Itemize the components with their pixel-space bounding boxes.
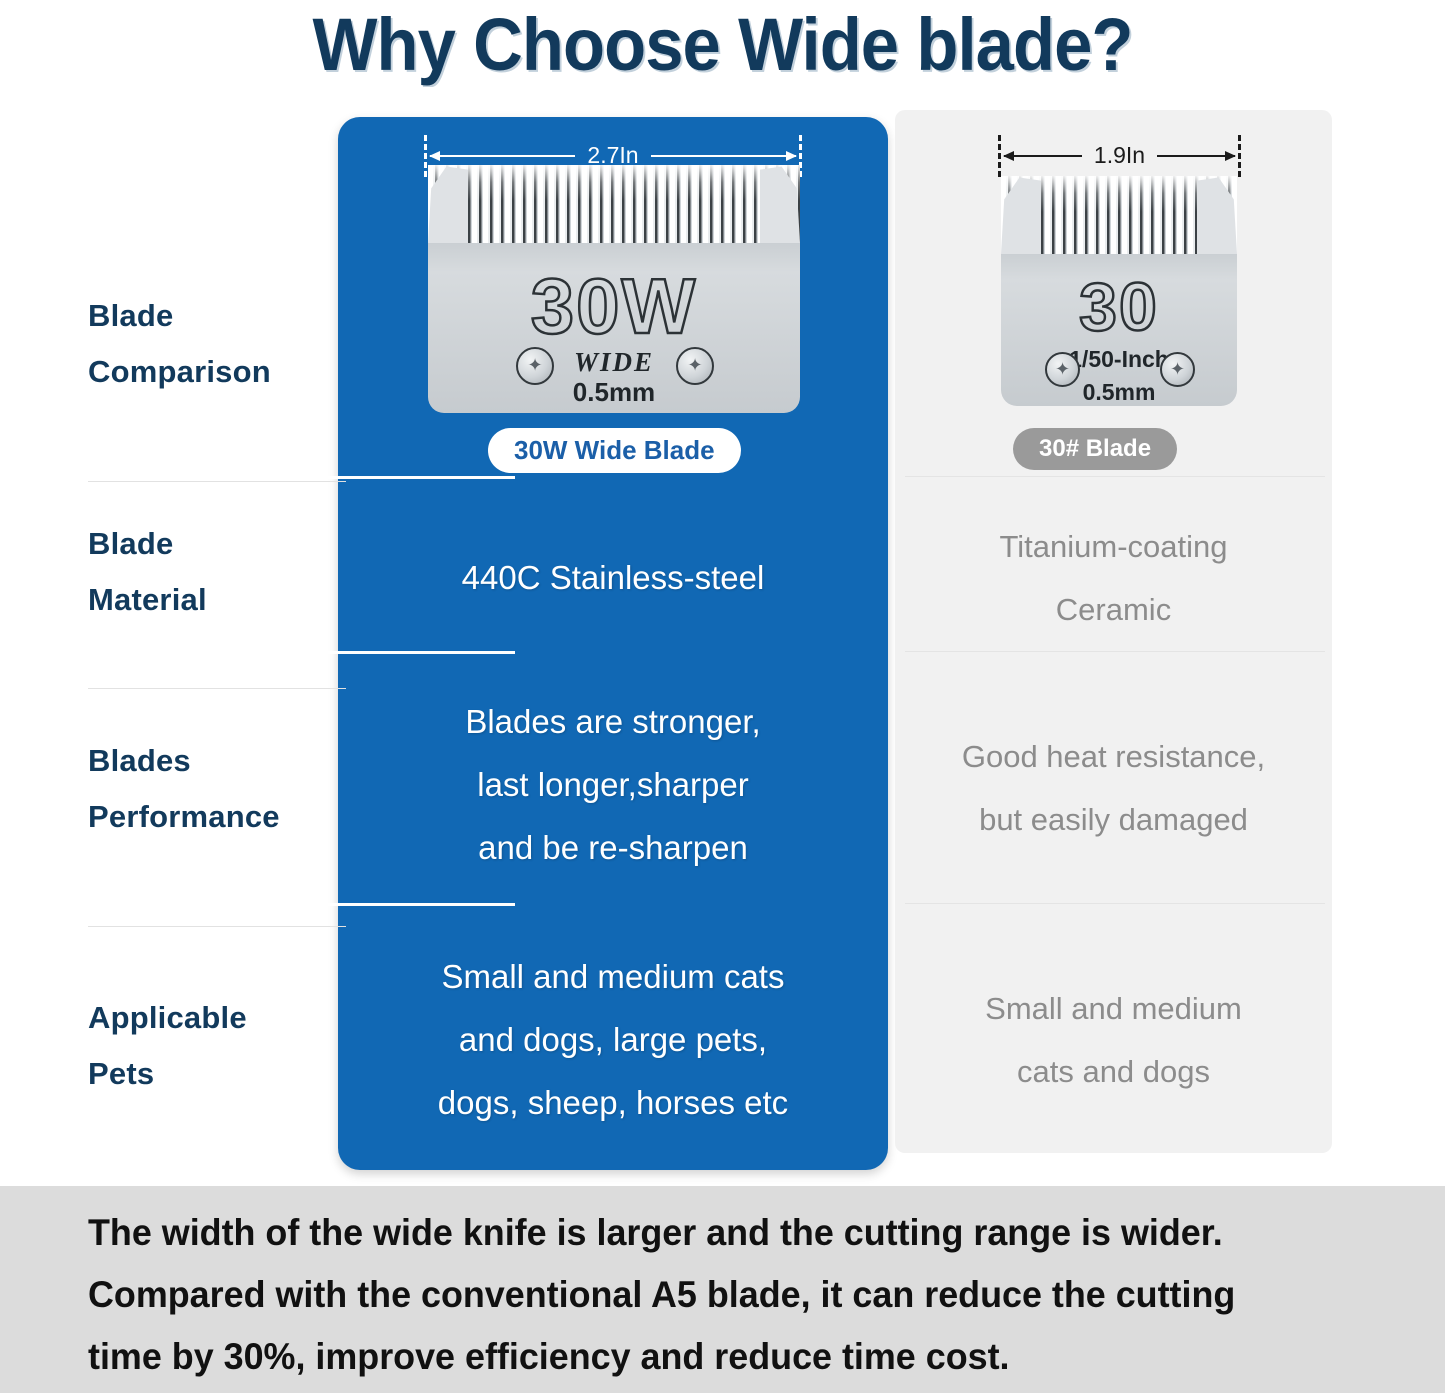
star-screw-icon: ✦ xyxy=(1160,352,1195,387)
cell-line: cats and dogs xyxy=(895,1040,1332,1103)
highlight-badge: 30W Wide Blade xyxy=(488,428,741,473)
screw-star-glyph: ✦ xyxy=(1170,360,1185,378)
footer-text: The width of the wide knife is larger an… xyxy=(88,1202,1339,1388)
page-title: Why Choose Wide blade? xyxy=(51,2,1395,87)
dimension-arrow-right xyxy=(1157,155,1235,157)
dimension-tick-left xyxy=(424,135,427,177)
row-label-blade-material: Blade Material xyxy=(88,516,348,628)
dimension-tick-left xyxy=(998,135,1001,177)
dimension-arrow-right xyxy=(651,155,796,157)
row-label-line: Comparison xyxy=(88,344,348,400)
cell-line: Small and medium xyxy=(895,977,1332,1040)
row-label-line: Blades xyxy=(88,733,348,789)
highlight-row-divider xyxy=(35,476,515,479)
blade-model-text: 30W xyxy=(428,261,800,352)
cell-line: last longer,sharper xyxy=(338,753,888,816)
compare-badge: 30# Blade xyxy=(1013,428,1177,470)
row-divider xyxy=(88,688,346,689)
cell-line: but easily damaged xyxy=(895,788,1332,851)
cell-line: Good heat resistance, xyxy=(895,725,1332,788)
highlight-row-divider xyxy=(35,903,515,906)
row-label-blade-comparison: Blade Comparison xyxy=(88,288,348,400)
screw-star-glyph: ✦ xyxy=(687,356,702,374)
blade-graphic-30w: 30W WIDE 0.5mm ✦ ✦ xyxy=(428,165,800,413)
row-label-line: Material xyxy=(88,572,348,628)
row-label-applicable-pets: Applicable Pets xyxy=(88,990,348,1102)
compare-blade-figure: 1.9In 30 1/50-Inch 0.5mm ✦ ✦ 30# Blade xyxy=(895,110,1332,470)
highlight-cell-blades-performance: Blades are stronger, last longer,sharper… xyxy=(338,690,888,879)
blade-sub-label-a: 1/50-Inch xyxy=(1001,346,1237,373)
cell-line: 440C Stainless-steel xyxy=(338,546,888,609)
cell-line: Ceramic xyxy=(895,578,1332,641)
footer-banner: The width of the wide knife is larger an… xyxy=(0,1186,1445,1393)
screw-star-glyph: ✦ xyxy=(527,356,542,374)
dimension-tick-right xyxy=(1238,135,1241,177)
highlight-cell-blade-material: 440C Stainless-steel xyxy=(338,546,888,609)
blade-teeth-highlight xyxy=(428,165,800,243)
row-label-blades-performance: Blades Performance xyxy=(88,733,348,845)
dimension-label: 1.9In xyxy=(1082,144,1157,167)
cell-line: Blades are stronger, xyxy=(338,690,888,753)
row-label-line: Blade xyxy=(88,288,348,344)
dimension-line-standard: 1.9In xyxy=(998,135,1241,177)
cell-line: Small and medium cats xyxy=(338,945,888,1008)
star-screw-icon: ✦ xyxy=(516,347,554,385)
row-divider xyxy=(88,481,346,482)
cell-line: and dogs, large pets, xyxy=(338,1008,888,1071)
compare-cell-applicable-pets: Small and medium cats and dogs xyxy=(895,977,1332,1103)
footer-line: The width of the wide knife is larger an… xyxy=(88,1202,1339,1264)
highlight-row-divider xyxy=(35,651,515,654)
compare-row-divider xyxy=(905,651,1325,652)
cell-line: Titanium-coating xyxy=(895,515,1332,578)
blade-sub-label-b: 0.5mm xyxy=(428,377,800,408)
dimension-bar: 2.7In xyxy=(430,148,796,164)
star-screw-icon: ✦ xyxy=(676,347,714,385)
blade-sub-label-b: 0.5mm xyxy=(1001,379,1237,406)
dimension-bar: 1.9In xyxy=(1004,148,1235,164)
row-label-line: Blade xyxy=(88,516,348,572)
footer-line: Compared with the conventional A5 blade,… xyxy=(88,1264,1339,1326)
highlight-blade-figure: 2.7In 30W WIDE 0.5mm ✦ ✦ 30W Wide B xyxy=(338,117,888,477)
blade-sub-label-a: WIDE xyxy=(428,347,800,378)
comparison-table: Blade Comparison Blade Material Blades P… xyxy=(0,110,1445,1175)
footer-line: time by 30%, improve efficiency and redu… xyxy=(88,1326,1339,1388)
compare-cell-blades-performance: Good heat resistance, but easily damaged xyxy=(895,725,1332,851)
compare-row-divider xyxy=(905,903,1325,904)
blade-model-text: 30 xyxy=(1001,268,1237,346)
highlight-cell-applicable-pets: Small and medium cats and dogs, large pe… xyxy=(338,945,888,1134)
dimension-arrow-left xyxy=(1004,155,1082,157)
row-label-line: Performance xyxy=(88,789,348,845)
blade-teeth xyxy=(428,165,800,243)
dimension-label: 2.7In xyxy=(575,144,650,167)
row-label-line: Pets xyxy=(88,1046,348,1102)
star-screw-icon: ✦ xyxy=(1045,352,1080,387)
compare-cell-blade-material: Titanium-coating Ceramic xyxy=(895,515,1332,641)
row-divider xyxy=(88,926,346,927)
blade-graphic-30: 30 1/50-Inch 0.5mm ✦ ✦ xyxy=(1001,176,1237,406)
row-label-line: Applicable xyxy=(88,990,348,1046)
screw-star-glyph: ✦ xyxy=(1055,360,1070,378)
cell-line: dogs, sheep, horses etc xyxy=(338,1071,888,1134)
row-label-column: Blade Comparison Blade Material Blades P… xyxy=(88,118,348,1168)
dimension-arrow-left xyxy=(430,155,575,157)
compare-row-divider xyxy=(905,476,1325,477)
cell-line: and be re-sharpen xyxy=(338,816,888,879)
